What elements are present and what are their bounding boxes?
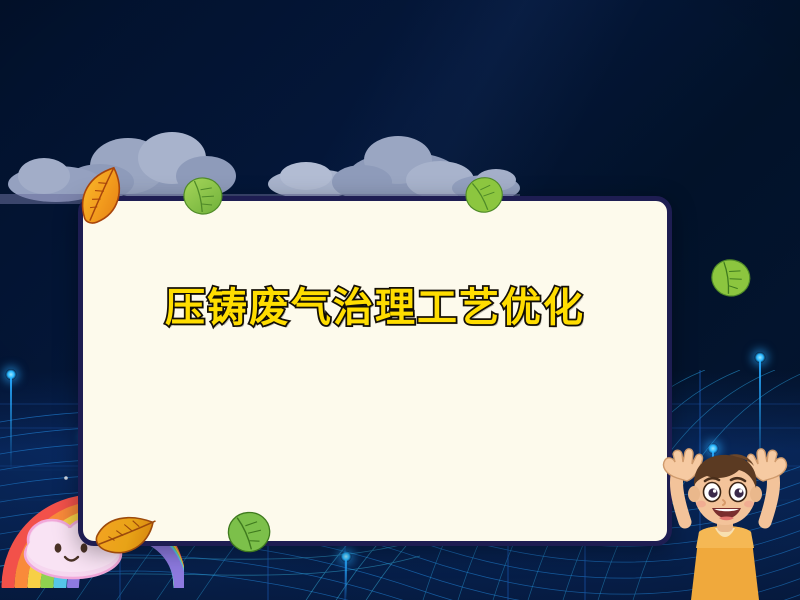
cheering-boy-character [655,448,795,600]
glow-pin-center [345,556,347,600]
title-card: 压铸废气治理工艺优化 [78,196,672,546]
green-leaf-top-mid [178,170,229,221]
green-leaf-top-right [459,169,510,220]
page-title: 压铸废气治理工艺优化 [83,275,667,333]
slide-canvas: 压铸废气治理工艺优化 [0,0,800,600]
eye-left [55,543,62,552]
green-leaf-right [704,250,759,305]
green-leaf-bottom-mid [222,504,275,557]
